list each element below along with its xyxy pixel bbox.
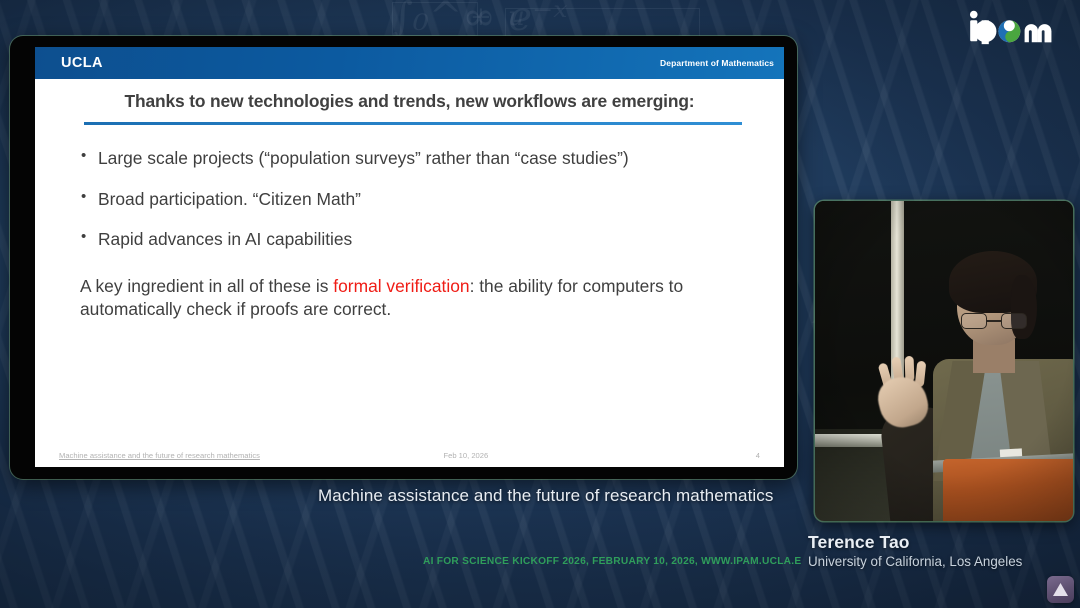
speaker-name-plate: Terence Tao University of California, Lo… — [808, 532, 1022, 569]
slide-body: Thanks to new technologies and trends, n… — [35, 90, 784, 467]
video-vignette — [815, 201, 1073, 521]
ucla-logo: UCLA — [61, 55, 103, 71]
list-item: Large scale projects (“population survey… — [80, 147, 680, 170]
paragraph-text-before: A key ingredient in all of these is — [80, 276, 333, 296]
slide-canvas: UCLA Department of Mathematics Thanks to… — [35, 47, 784, 467]
footer-date: Feb 10, 2026 — [260, 451, 756, 460]
list-item: Broad participation. “Citizen Math” — [80, 188, 680, 211]
talk-title-overlay: Machine assistance and the future of res… — [318, 486, 774, 506]
speaker-name: Terence Tao — [808, 532, 1022, 553]
event-ticker: AI FOR SCIENCE KICKOFF 2026, FEBRUARY 10… — [423, 556, 801, 567]
slide-title: Thanks to new technologies and trends, n… — [77, 90, 742, 113]
formal-verification-highlight: formal verification — [333, 276, 469, 296]
footer-talk-title: Machine assistance and the future of res… — [59, 451, 260, 460]
ipam-logo — [968, 5, 1064, 47]
slide-frame: UCLA Department of Mathematics Thanks to… — [10, 36, 797, 479]
app-icon[interactable] — [1047, 576, 1074, 603]
speaker-affiliation: University of California, Los Angeles — [808, 554, 1022, 569]
triangle-icon — [1052, 582, 1069, 597]
slide-page-number: 4 — [756, 451, 760, 460]
department-label: Department of Mathematics — [660, 58, 774, 68]
list-item: Rapid advances in AI capabilities — [80, 228, 680, 251]
presentation-stream-view: ∫₀^∞ e⁻ˣ + u ∂ᵤ = ∇² Σ aₙ xⁿ UCLA Dep — [0, 0, 1080, 608]
speaker-video-panel[interactable] — [815, 201, 1073, 521]
bullet-list: Large scale projects (“population survey… — [80, 147, 760, 251]
slide-footer: Machine assistance and the future of res… — [59, 451, 760, 460]
slide-header-bar: UCLA Department of Mathematics — [35, 47, 784, 79]
key-ingredient-paragraph: A key ingredient in all of these is form… — [80, 275, 695, 320]
title-divider — [84, 122, 742, 125]
